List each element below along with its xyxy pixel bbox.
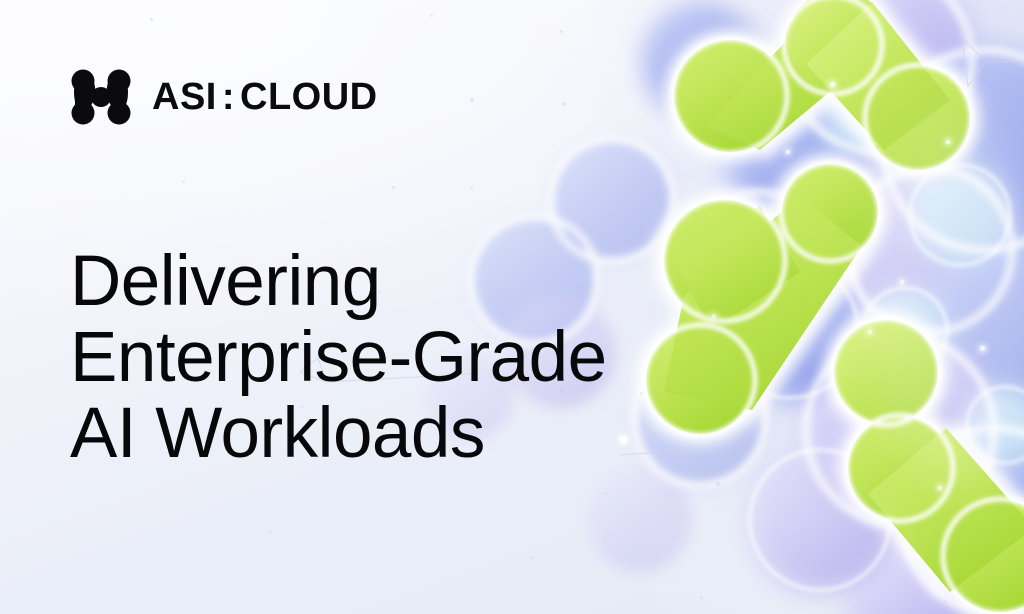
brand-logo[interactable]: ASI:CLOUD bbox=[70, 68, 378, 126]
headline-line-2: Enterprise-Grade bbox=[70, 320, 607, 396]
hero-banner: ASI:CLOUD Delivering Enterprise-Grade AI… bbox=[0, 0, 1024, 614]
wordmark-separator: : bbox=[217, 76, 240, 118]
brand-wordmark: ASI:CLOUD bbox=[152, 78, 378, 116]
asi-cloud-molecule-logo-icon bbox=[70, 68, 132, 126]
headline-line-3: AI Workloads bbox=[70, 396, 607, 472]
wordmark-primary: ASI bbox=[152, 76, 217, 118]
wordmark-secondary: CLOUD bbox=[240, 76, 378, 118]
headline-line-1: Delivering bbox=[70, 244, 607, 320]
page-title: Delivering Enterprise-Grade AI Workloads bbox=[70, 244, 607, 472]
